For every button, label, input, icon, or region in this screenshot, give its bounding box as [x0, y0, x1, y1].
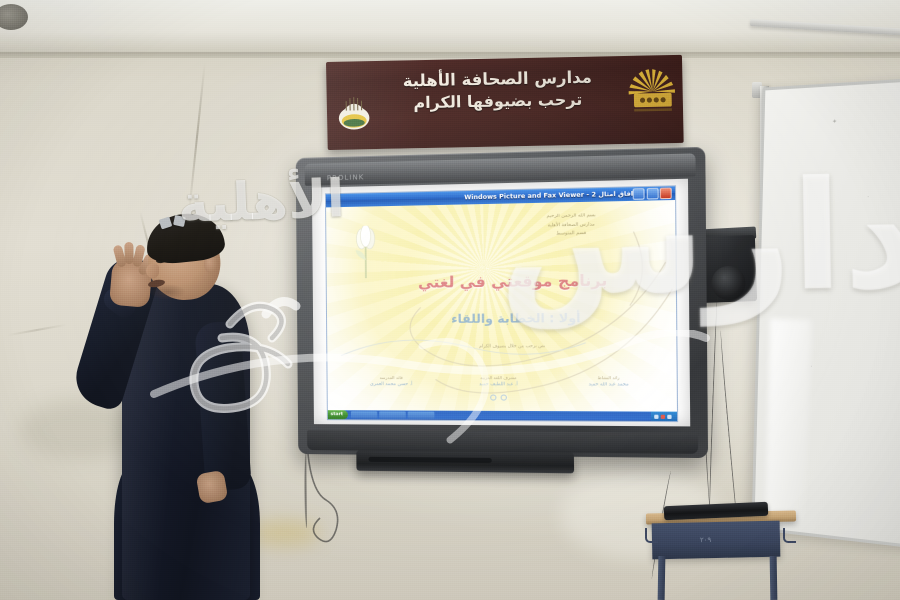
interactive-smartboard[interactable]: PROLINK آفاق أمثال 2 - Windows Picture a… [296, 147, 708, 458]
banner-line-2: ترحب بضيوفها الكرام [373, 88, 623, 116]
start-button[interactable]: start [327, 410, 348, 419]
desk-number-label: ٢٠٩ [700, 536, 711, 544]
taskbar-items[interactable] [348, 411, 651, 420]
desk-leg [658, 556, 666, 600]
tray-icon[interactable] [655, 414, 659, 418]
tray-icon[interactable] [661, 414, 665, 418]
wall-speaker [701, 235, 757, 303]
slide-credits: رائد النشاط محمد عبد الله حميد مشرف اللغ… [341, 375, 663, 388]
pen-tray[interactable] [356, 451, 574, 474]
credit-item: مشرف اللغة العربية أ. عبد اللطيف حميد [446, 375, 551, 388]
credit-role: رائد النشاط [555, 375, 662, 380]
hanging-cable [300, 452, 380, 562]
welcome-banner: مدارس الصحافة الأهلية ترحب بضيوفها الكرا… [326, 55, 684, 150]
ceiling [0, 0, 900, 58]
credit-name: أ. عبد اللطيف حميد [446, 383, 551, 388]
student-presenter [92, 214, 282, 600]
taskbar-item[interactable] [379, 411, 406, 418]
slide-dot [501, 395, 507, 401]
right-hand [196, 470, 229, 504]
credit-role: قائد المدرسة [341, 375, 443, 380]
window-controls[interactable] [633, 187, 672, 199]
whiteboard[interactable]: ✦ · · · [751, 75, 900, 553]
credit-name: أ. حسن محمد العمري [341, 382, 443, 387]
smartboard-screen[interactable]: آفاق أمثال 2 - Windows Picture and Fax V… [312, 179, 690, 427]
close-button[interactable] [660, 187, 672, 199]
banner-text: مدارس الصحافة الأهلية ترحب بضيوفها الكرا… [372, 65, 623, 116]
desk-hook [783, 528, 796, 543]
school-crest-logo [337, 89, 372, 132]
slide-dot [490, 395, 496, 401]
nose [146, 264, 159, 278]
credit-name: محمد عبد الله حميد [555, 383, 662, 388]
window-body: بسم الله الرحمن الرحيم مدارس الصحافة الأ… [326, 200, 678, 421]
presentation-slide: بسم الله الرحمن الرحيم مدارس الصحافة الأ… [326, 200, 678, 421]
desk-hook [645, 528, 658, 543]
picture-viewer-window[interactable]: آفاق أمثال 2 - Windows Picture and Fax V… [325, 185, 679, 422]
banner-line-1: مدارس الصحافة الأهلية [372, 65, 622, 93]
credit-role: مشرف اللغة العربية [446, 375, 551, 380]
windows-taskbar[interactable]: start [327, 410, 677, 421]
system-tray[interactable] [651, 412, 677, 422]
credit-item: قائد المدرسة أ. حسن محمد العمري [341, 375, 443, 388]
taskbar-item[interactable] [351, 411, 377, 418]
desk-leg [770, 556, 778, 600]
maximize-button[interactable] [647, 188, 659, 200]
slide-dot-row [490, 395, 507, 401]
credit-item: رائد النشاط محمد عبد الله حميد [555, 375, 662, 388]
classroom-photo: مدارس الصحافة الأهلية ترحب بضيوفها الكرا… [0, 0, 900, 600]
hair-clip [173, 215, 186, 227]
school-desk-body [652, 521, 781, 560]
ceiling-edge [0, 52, 900, 58]
slide-decorative-swoosh [326, 200, 678, 421]
smartboard-brand-label: PROLINK [327, 173, 365, 182]
tray-icon[interactable] [668, 414, 672, 418]
taskbar-item[interactable] [408, 412, 435, 419]
minimize-button[interactable] [633, 188, 645, 200]
sunburst-logo [626, 67, 679, 116]
